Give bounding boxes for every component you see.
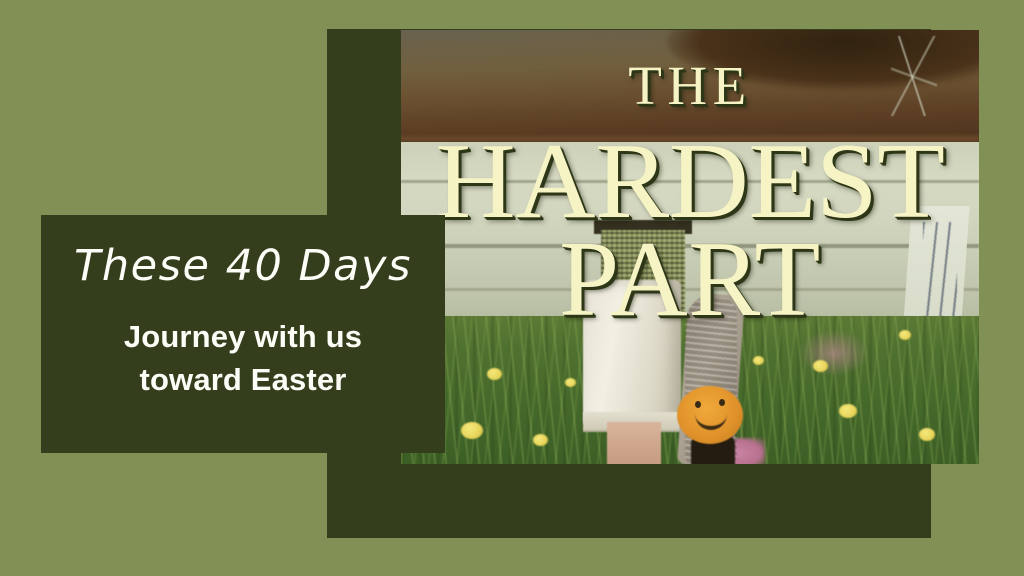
promo-graphic: THE HARDEST PART These 40 Days Journey w… xyxy=(0,0,1024,576)
dandelion xyxy=(533,434,548,446)
dandelion xyxy=(487,368,502,380)
dandelion xyxy=(461,422,483,439)
dandelion xyxy=(813,360,828,372)
twig-branch xyxy=(891,36,937,116)
smiley-eye-icon xyxy=(695,401,701,408)
dandelion xyxy=(919,428,935,441)
bare-leg xyxy=(607,422,661,464)
wall-seam-line xyxy=(401,244,979,248)
caption-script-title: These 40 Days xyxy=(74,243,412,290)
hero-photo xyxy=(401,30,979,464)
dandelion xyxy=(839,404,857,418)
caravan-wall xyxy=(401,142,979,332)
wall-seam-line xyxy=(401,288,979,291)
dandelion xyxy=(753,356,764,365)
caption-subtitle-line-2: toward Easter xyxy=(124,359,362,402)
caption-panel: These 40 Days Journey with us toward Eas… xyxy=(41,215,445,453)
dandelion xyxy=(899,330,911,340)
caption-subtitle: Journey with us toward Easter xyxy=(124,316,362,402)
white-shorts xyxy=(583,280,681,430)
wall-sign-writing xyxy=(923,222,957,326)
caption-content: These 40 Days Journey with us toward Eas… xyxy=(41,215,445,453)
photo-scene xyxy=(401,30,979,464)
pink-flower-patch xyxy=(799,330,869,376)
dandelion xyxy=(565,378,576,387)
wall-seam-line xyxy=(401,180,979,183)
caption-subtitle-line-1: Journey with us xyxy=(124,316,362,359)
smiley-eye-icon xyxy=(719,399,725,406)
